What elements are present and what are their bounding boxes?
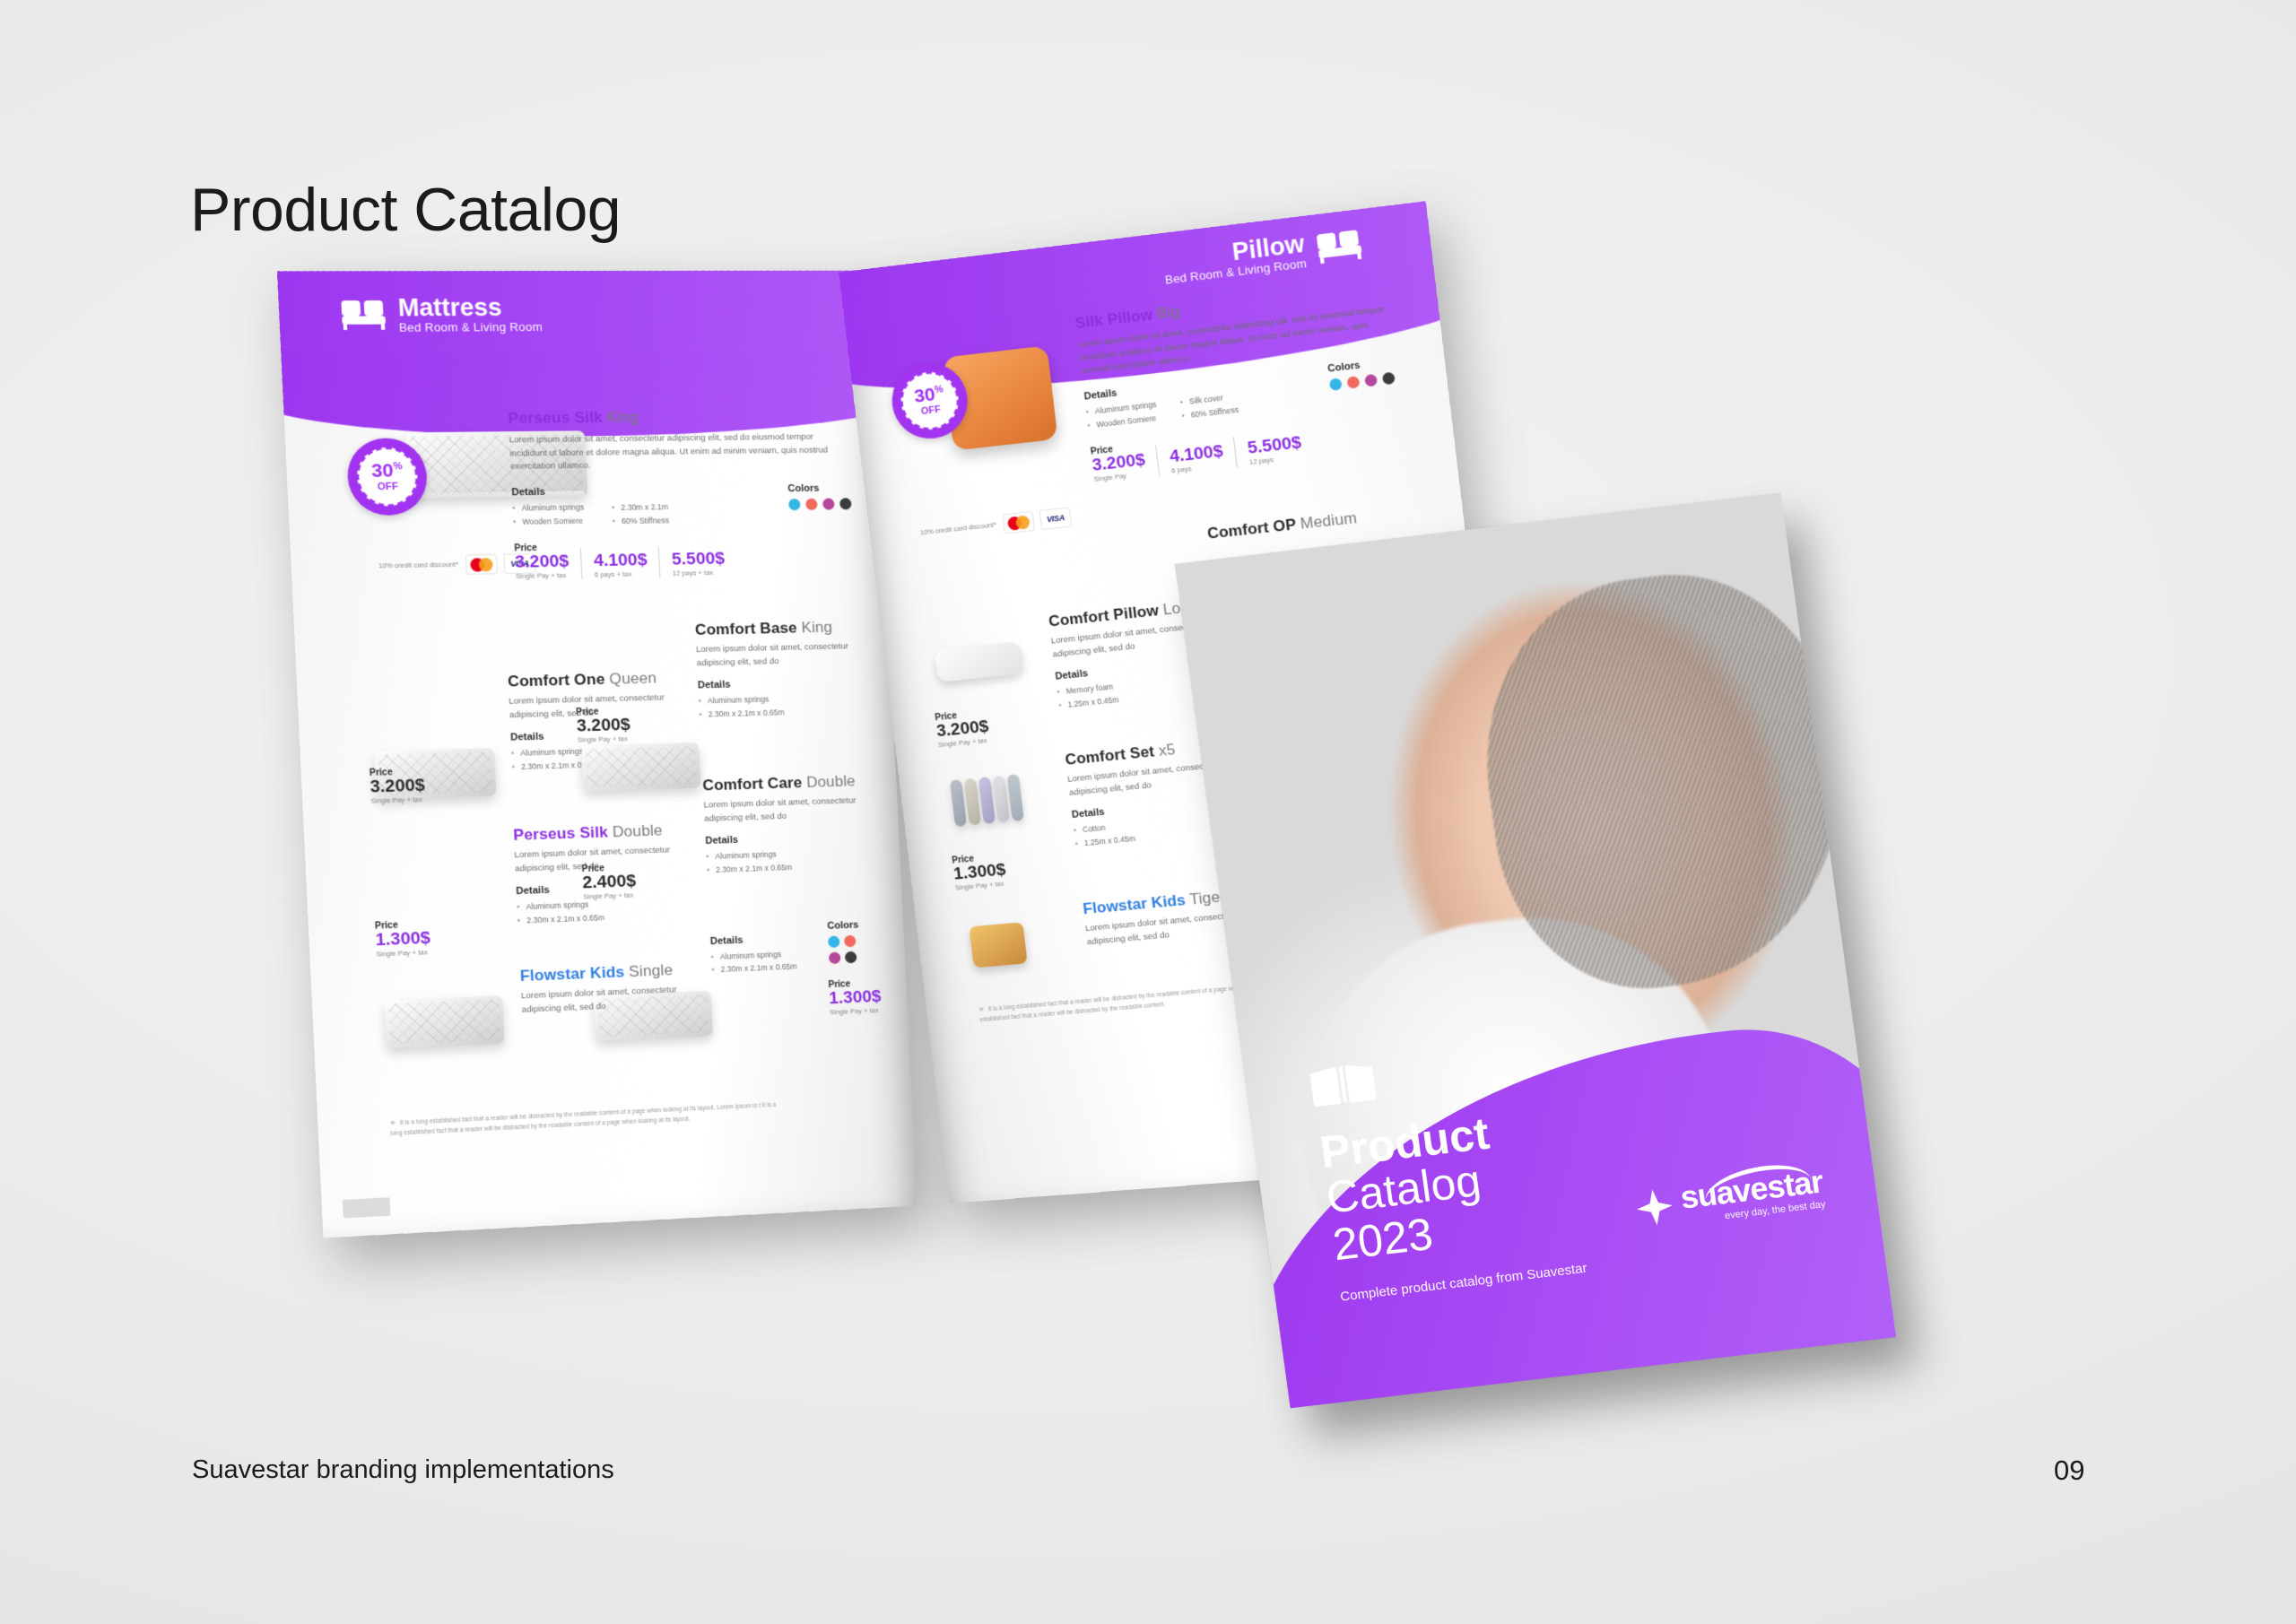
- bed-icon: [341, 300, 386, 330]
- page-folio-left: [343, 1197, 391, 1218]
- product-image-r1: [935, 641, 1024, 682]
- product-price-note-4: Single Pay + tax: [830, 1006, 883, 1017]
- star-icon: [1634, 1187, 1674, 1227]
- colors-label: Colors: [1327, 356, 1394, 374]
- product-price-block-4: Price 1.300$ Single Pay + tax: [828, 978, 882, 1016]
- badge-off-label: OFF: [920, 405, 941, 417]
- product-price-note-2: Single Pay + tax: [376, 948, 431, 959]
- slide-footer: Suavestar branding implementations: [192, 1455, 614, 1485]
- swatch-magenta[interactable]: [829, 951, 841, 964]
- details-label: Details: [511, 486, 584, 498]
- catalog-cover: Product Catalog 2023 Complete product ca…: [1175, 493, 1896, 1409]
- product-price-4: 1.300$: [829, 988, 882, 1008]
- mastercard-logo: [465, 554, 498, 575]
- secondary-color-swatches: [828, 934, 869, 964]
- hero-product-mattress: Perseus Silk King Lorem ipsum dolor sit …: [508, 406, 855, 580]
- hero-price-1: 3.200$: [515, 553, 570, 572]
- spread-left-page: Mattress Bed Room & Living Room 30% OFF: [277, 271, 918, 1238]
- product-name-r0: Comfort OP Medium: [1206, 506, 1393, 543]
- product-info-1: Comfort Base King Lorem ipsum dolor sit …: [694, 618, 866, 721]
- credit-card-note-row: 10% credit card discount* VISA: [378, 553, 535, 577]
- product-price-block-1: Price 3.200$ Single Pay + tax: [576, 707, 631, 744]
- badge-percent: 30: [371, 460, 395, 482]
- product-price-block-2: Price 1.300$ Single Pay + tax: [375, 919, 431, 958]
- open-book-icon: [1308, 1054, 1377, 1107]
- swatch-coral[interactable]: [844, 935, 857, 948]
- product-price-2: 1.300$: [375, 930, 430, 951]
- product-price-note-1: Single Pay + tax: [578, 734, 631, 744]
- mattress-banner-title: Mattress: [397, 294, 542, 320]
- product-desc-1: Lorem ipsum dolor sit amet, consectetur …: [696, 640, 865, 671]
- product-price-block-3: Price 2.400$ Single Pay + tax: [581, 863, 637, 901]
- product-details-3: Aluminum springs 2.30m x 2.1m x 0.65m: [706, 845, 878, 877]
- product-price-1: 3.200$: [577, 716, 631, 736]
- credit-card-note-row-right: 10% credit card discount* VISA: [919, 507, 1073, 543]
- product-details-1: Aluminum springs 2.30m x 2.1m x 0.65m: [698, 690, 866, 721]
- product-price-block-0: Price 3.200$ Single Pay + tax: [370, 767, 426, 805]
- visa-logo: VISA: [1039, 507, 1073, 530]
- hero-color-swatches: [1329, 372, 1396, 391]
- product-price-block-r2: Price 1.300$ Single Pay + tax: [952, 851, 1008, 891]
- swatch-magenta[interactable]: [1364, 374, 1378, 387]
- product-image-r2: [950, 774, 1024, 827]
- swatch-charcoal[interactable]: [839, 498, 852, 509]
- hero-details-col1: Aluminum springs Wooden Somiere: [512, 501, 585, 529]
- hero-product-name: Perseus Silk King: [508, 406, 848, 428]
- product-image-1: [581, 743, 700, 791]
- product-details-4: Aluminum springs 2.30m x 2.1m x 0.65m: [710, 945, 848, 977]
- hero-price-3-note: 12 pays + tax: [673, 569, 726, 578]
- product-image-r3: [969, 922, 1027, 968]
- product-price-3: 2.400$: [582, 873, 637, 892]
- product-info-r0: Comfort OP Medium: [1206, 506, 1393, 543]
- payment-cards: VISA: [1002, 507, 1072, 534]
- swatch-coral[interactable]: [1346, 376, 1360, 389]
- hero-details-col2: Silk cover 60% Stiffness: [1179, 390, 1239, 422]
- product-name-2: Perseus Silk Double: [513, 821, 689, 845]
- product-price-block-r1: Price 3.200$ Single Pay + tax: [935, 708, 991, 750]
- hero-price-row: Price 3.200$ Single Pay + tax 4.100$ 6 p…: [514, 538, 855, 580]
- badge-off-label: OFF: [378, 482, 399, 493]
- product-info-3: Comfort Care Double Lorem ipsum dolor si…: [702, 772, 878, 877]
- credit-card-discount-note: 10% credit card discount*: [919, 520, 996, 538]
- hero-details-col2: 2.30m x 2.1m 60% Stiffness: [612, 500, 670, 527]
- hero-price-1-note: Single Pay + tax: [516, 571, 570, 580]
- hero-product-description: Lorem ipsum dolor sit amet, consectetur …: [509, 430, 849, 474]
- mastercard-logo: [1002, 511, 1035, 534]
- colors-label: Colors: [787, 482, 851, 494]
- product-price-0: 3.200$: [370, 777, 425, 796]
- bed-icon: [1317, 230, 1363, 264]
- slide-page-number: 09: [2054, 1455, 2084, 1487]
- swatch-magenta[interactable]: [822, 499, 835, 510]
- swatch-coral[interactable]: [805, 499, 818, 510]
- product-name-3: Comfort Care Double: [702, 772, 874, 795]
- swatch-blue[interactable]: [788, 499, 801, 510]
- secondary-colors-block: Colors: [827, 919, 868, 964]
- swatch-blue[interactable]: [828, 935, 840, 948]
- left-page-footnote: ✳It is a long established fact that a re…: [390, 1100, 779, 1140]
- hero-price-2-note: 6 pays + tax: [595, 569, 648, 578]
- hero-price-2: 4.100$: [594, 551, 648, 570]
- product-name-4: Flowstar Kids Single: [519, 960, 695, 986]
- product-details-block-4: Details Aluminum springs 2.30m x 2.1m x …: [710, 931, 848, 977]
- mattress-banner-subtitle: Bed Room & Living Room: [399, 320, 544, 334]
- swatch-blue[interactable]: [1329, 378, 1343, 391]
- badge-percent-sign: %: [393, 461, 403, 472]
- product-info-4: Flowstar Kids Single Lorem ipsum dolor s…: [519, 960, 697, 1017]
- hero-price-3: 5.500$: [672, 551, 726, 569]
- badge-percent-sign: %: [934, 384, 944, 395]
- product-name-0: Comfort One Queen: [508, 669, 683, 691]
- credit-card-discount-note: 10% credit card discount*: [378, 560, 459, 570]
- product-name-1: Comfort Base King: [694, 618, 863, 639]
- mattress-banner-content: Mattress Bed Room & Living Room: [341, 294, 543, 334]
- cover-text-block: Product Catalog 2023 Complete product ca…: [1308, 1032, 1587, 1305]
- hero-color-swatches: [788, 498, 852, 510]
- swatch-charcoal[interactable]: [1382, 372, 1396, 386]
- product-price-note-0: Single Pay + tax: [370, 795, 426, 805]
- hero-product-pillow: Silk Pillow Big Lorem ipsum dolor sit am…: [1074, 279, 1404, 483]
- product-image-2: [384, 995, 504, 1048]
- hero-details-col1: Aluminum springs Wooden Somiere: [1085, 398, 1159, 432]
- product-desc-3: Lorem ipsum dolor sit amet, consectetur …: [703, 795, 875, 827]
- badge-percent: 30: [913, 384, 936, 407]
- swatch-charcoal[interactable]: [845, 951, 857, 964]
- catalog-mockup: Mattress Bed Room & Living Room 30% OFF: [0, 0, 2296, 1624]
